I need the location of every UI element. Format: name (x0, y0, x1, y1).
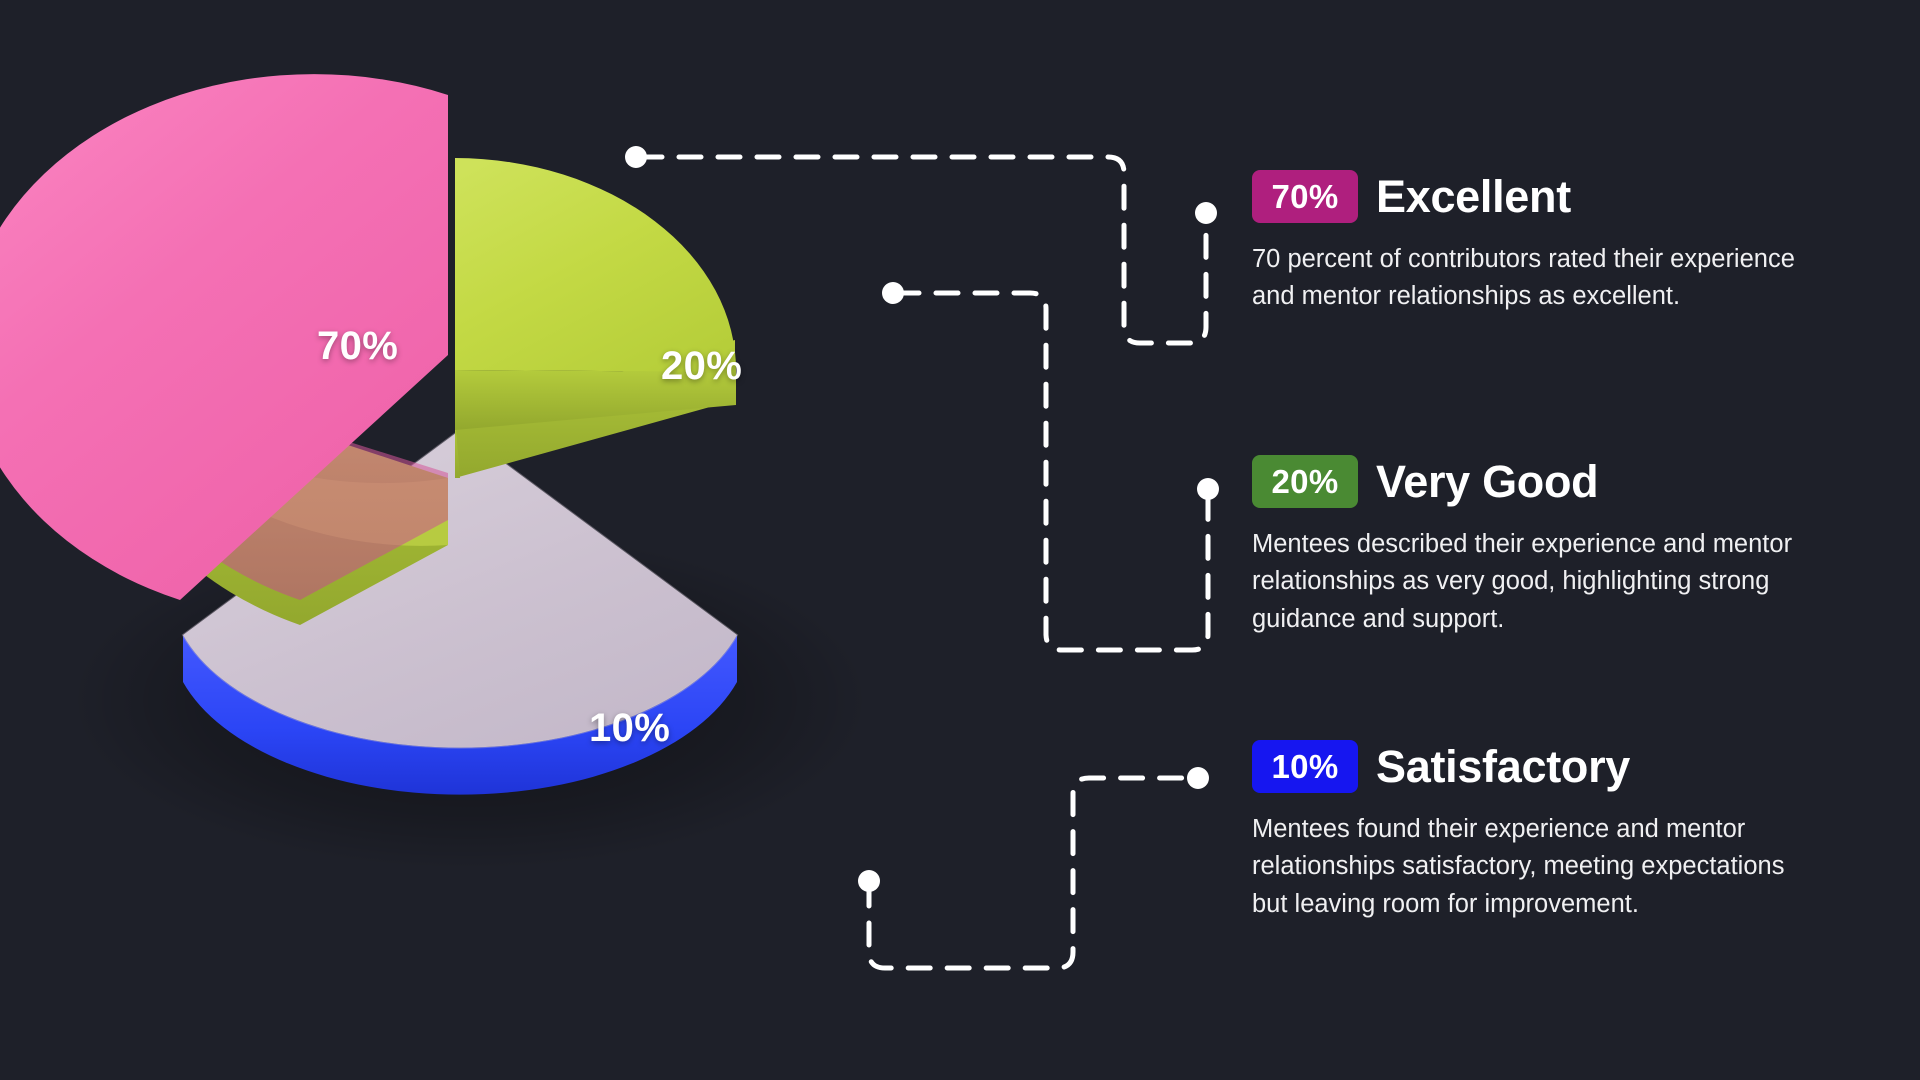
legend-description-satisfactory: Mentees found their experience and mento… (1252, 811, 1812, 923)
legend-title-very-good: Very Good (1376, 459, 1598, 504)
legend-badge-satisfactory: 10% (1252, 740, 1358, 793)
legend-item-very-good[interactable]: 20% Very Good Mentees described their ex… (1252, 455, 1852, 638)
legend-panel: 70% Excellent 70 percent of contributors… (1252, 0, 1872, 1080)
legend-badge-very-good: 20% (1252, 455, 1358, 508)
infographic-canvas: 70% 20% 10% 70% Excellent 70 percent of … (0, 0, 1920, 1080)
legend-item-satisfactory[interactable]: 10% Satisfactory Mentees found their exp… (1252, 740, 1852, 923)
legend-head-satisfactory: 10% Satisfactory (1252, 740, 1852, 793)
pie-slice-excellent[interactable] (0, 74, 448, 625)
pie-slice-very-good[interactable] (455, 158, 736, 478)
pie-chart-svg (0, 0, 1020, 1080)
legend-title-satisfactory: Satisfactory (1376, 744, 1630, 789)
legend-title-excellent: Excellent (1376, 174, 1571, 219)
legend-badge-excellent: 70% (1252, 170, 1358, 223)
pie-chart: 70% 20% 10% (0, 0, 1020, 1080)
legend-description-excellent: 70 percent of contributors rated their e… (1252, 241, 1812, 316)
connector-dot-end-satisfactory (1187, 767, 1209, 789)
connector-dot-end-very-good (1197, 478, 1219, 500)
legend-description-very-good: Mentees described their experience and m… (1252, 526, 1812, 638)
legend-head-very-good: 20% Very Good (1252, 455, 1852, 508)
legend-item-excellent[interactable]: 70% Excellent 70 percent of contributors… (1252, 170, 1852, 316)
legend-head-excellent: 70% Excellent (1252, 170, 1852, 223)
connector-dot-end-excellent (1195, 202, 1217, 224)
